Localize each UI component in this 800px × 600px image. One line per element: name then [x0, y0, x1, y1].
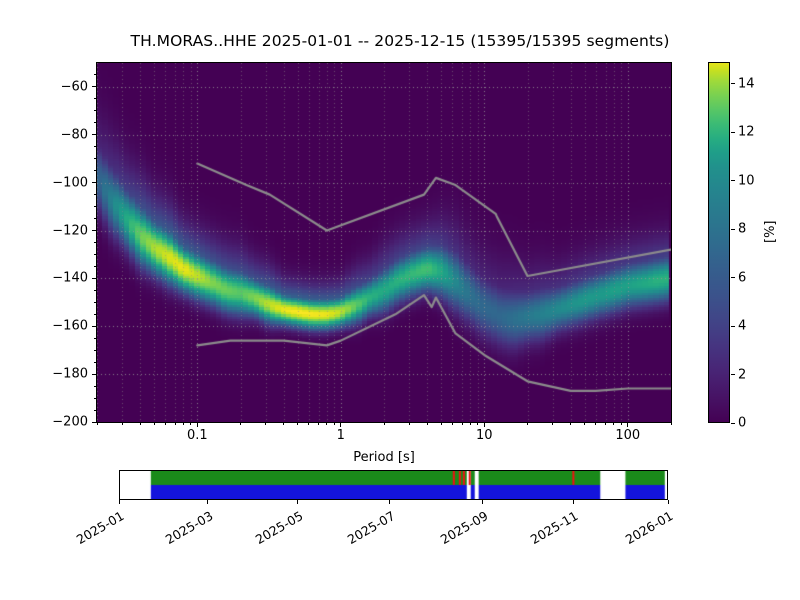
- y-axis-tick-label: −200: [44, 415, 88, 430]
- y-axis-tick-label: −180: [44, 367, 88, 382]
- x-axis-minor-tick: [183, 422, 184, 425]
- x-axis-minor-tick: [384, 422, 385, 425]
- y-axis-tick: [92, 374, 96, 375]
- page-title: TH.MORAS..HHE 2025-01-01 -- 2025-12-15 (…: [0, 32, 800, 50]
- x-axis-minor-tick: [527, 422, 528, 425]
- y-axis-minor-tick: [94, 290, 97, 291]
- x-axis-minor-tick: [97, 422, 98, 425]
- colorbar-tick-label: 14: [738, 76, 755, 91]
- x-axis-minor-tick: [140, 422, 141, 425]
- timeline-tick: [119, 500, 120, 504]
- y-axis-tick: [92, 230, 96, 231]
- x-axis-minor-tick: [470, 422, 471, 425]
- timeline-tick-label: 2025-01: [69, 508, 127, 550]
- y-axis-tick: [92, 326, 96, 327]
- y-axis-tick-label: −160: [44, 319, 88, 334]
- x-axis-minor-tick: [283, 422, 284, 425]
- timeline-tick: [297, 500, 298, 504]
- y-axis-minor-tick: [94, 302, 97, 303]
- colorbar-tick: [731, 277, 735, 278]
- colorbar-tick-label: 10: [738, 173, 755, 188]
- y-axis-minor-tick: [94, 350, 97, 351]
- timeline-tick: [389, 500, 390, 504]
- colorbar-tick: [731, 83, 735, 84]
- x-axis-minor-tick: [240, 422, 241, 425]
- x-axis-minor-tick: [477, 422, 478, 425]
- x-axis-minor-tick: [326, 422, 327, 425]
- x-axis-minor-tick: [409, 422, 410, 425]
- timeline-canvas: [120, 471, 667, 499]
- x-axis-minor-tick: [318, 422, 319, 425]
- x-axis-minor-tick: [175, 422, 176, 425]
- x-axis-minor-tick: [671, 422, 672, 425]
- ppsd-plot-area[interactable]: [96, 62, 672, 423]
- y-axis-tick: [92, 134, 96, 135]
- x-axis-minor-tick: [122, 422, 123, 425]
- x-axis-minor-tick: [154, 422, 155, 425]
- y-axis-minor-tick: [94, 98, 97, 99]
- y-axis-minor-tick: [94, 338, 97, 339]
- y-axis-minor-tick: [94, 242, 97, 243]
- x-axis-tick: [484, 422, 485, 427]
- y-axis-tick: [92, 86, 96, 87]
- colorbar: [708, 62, 730, 423]
- colorbar-tick: [731, 229, 735, 230]
- y-axis-minor-tick: [94, 362, 97, 363]
- x-axis-minor-tick: [584, 422, 585, 425]
- y-axis-tick-label: −60: [44, 79, 88, 94]
- x-axis-minor-tick: [605, 422, 606, 425]
- x-axis-tick-label: 1: [337, 428, 345, 443]
- x-axis-minor-tick: [452, 422, 453, 425]
- y-axis-minor-tick: [94, 410, 97, 411]
- x-axis-minor-tick: [334, 422, 335, 425]
- timeline-tick-label: 2025-11: [523, 508, 581, 550]
- y-axis-minor-tick: [94, 122, 97, 123]
- y-axis-tick: [92, 278, 96, 279]
- y-axis-tick: [92, 422, 96, 423]
- x-axis-minor-tick: [441, 422, 442, 425]
- colorbar-tick: [731, 423, 735, 424]
- x-axis-minor-tick: [621, 422, 622, 425]
- x-axis-minor-tick: [552, 422, 553, 425]
- y-axis-label-wrap: Amplitude [m²/s⁴/Hz] [dB]: [26, 0, 46, 600]
- colorbar-tick-label: 12: [738, 125, 755, 140]
- y-axis-minor-tick: [94, 218, 97, 219]
- data-availability-timeline[interactable]: [119, 470, 668, 500]
- y-axis-tick: [92, 182, 96, 183]
- y-axis-minor-tick: [94, 266, 97, 267]
- y-axis-minor-tick: [94, 206, 97, 207]
- colorbar-tick-label: 6: [738, 270, 746, 285]
- colorbar-tick: [731, 180, 735, 181]
- y-axis-minor-tick: [94, 146, 97, 147]
- y-axis-minor-tick: [94, 314, 97, 315]
- x-axis-minor-tick: [462, 422, 463, 425]
- y-axis-minor-tick: [94, 74, 97, 75]
- colorbar-tick-label: 8: [738, 222, 746, 237]
- y-axis-tick-label: −100: [44, 175, 88, 190]
- colorbar-tick: [731, 132, 735, 133]
- y-axis-minor-tick: [94, 398, 97, 399]
- timeline-tick: [573, 500, 574, 504]
- colorbar-tick-label: 4: [738, 319, 746, 334]
- y-axis-tick-label: −80: [44, 127, 88, 142]
- timeline-tick-label: 2025-03: [157, 508, 215, 550]
- timeline-tick: [207, 500, 208, 504]
- y-axis-minor-tick: [94, 194, 97, 195]
- x-axis-label: Period [s]: [96, 450, 672, 465]
- colorbar-tick-label: 2: [738, 367, 746, 382]
- colorbar-label: [%]: [763, 221, 778, 244]
- y-axis-minor-tick: [94, 254, 97, 255]
- timeline-tick-label: 2025-05: [248, 508, 306, 550]
- timeline-tick: [482, 500, 483, 504]
- timeline-tick-label: 2026-01: [618, 508, 676, 550]
- x-axis-minor-tick: [427, 422, 428, 425]
- colorbar-tick-label: 0: [738, 416, 746, 431]
- x-axis-tick: [627, 422, 628, 427]
- timeline-tick: [668, 500, 669, 504]
- x-axis-minor-tick: [297, 422, 298, 425]
- x-axis-minor-tick: [595, 422, 596, 425]
- x-axis-minor-tick: [308, 422, 309, 425]
- colorbar-tick: [731, 374, 735, 375]
- y-axis-minor-tick: [94, 170, 97, 171]
- y-axis-tick-label: −140: [44, 271, 88, 286]
- x-axis-tick-label: 100: [615, 428, 640, 443]
- timeline-tick-label: 2025-09: [433, 508, 491, 550]
- y-axis-tick-label: −120: [44, 223, 88, 238]
- x-axis-minor-tick: [570, 422, 571, 425]
- x-axis-minor-tick: [265, 422, 266, 425]
- x-axis-tick: [197, 422, 198, 427]
- x-axis-minor-tick: [613, 422, 614, 425]
- x-axis-minor-tick: [190, 422, 191, 425]
- x-axis-tick: [340, 422, 341, 427]
- y-axis-minor-tick: [94, 158, 97, 159]
- colorbar-tick: [731, 326, 735, 327]
- x-axis-minor-tick: [165, 422, 166, 425]
- y-axis-minor-tick: [94, 386, 97, 387]
- x-axis-tick-label: 10: [476, 428, 493, 443]
- x-axis-tick-label: 0.1: [187, 428, 208, 443]
- timeline-tick-label: 2025-07: [340, 508, 398, 550]
- noise-model-overlay-canvas: [97, 63, 671, 422]
- y-axis-minor-tick: [94, 110, 97, 111]
